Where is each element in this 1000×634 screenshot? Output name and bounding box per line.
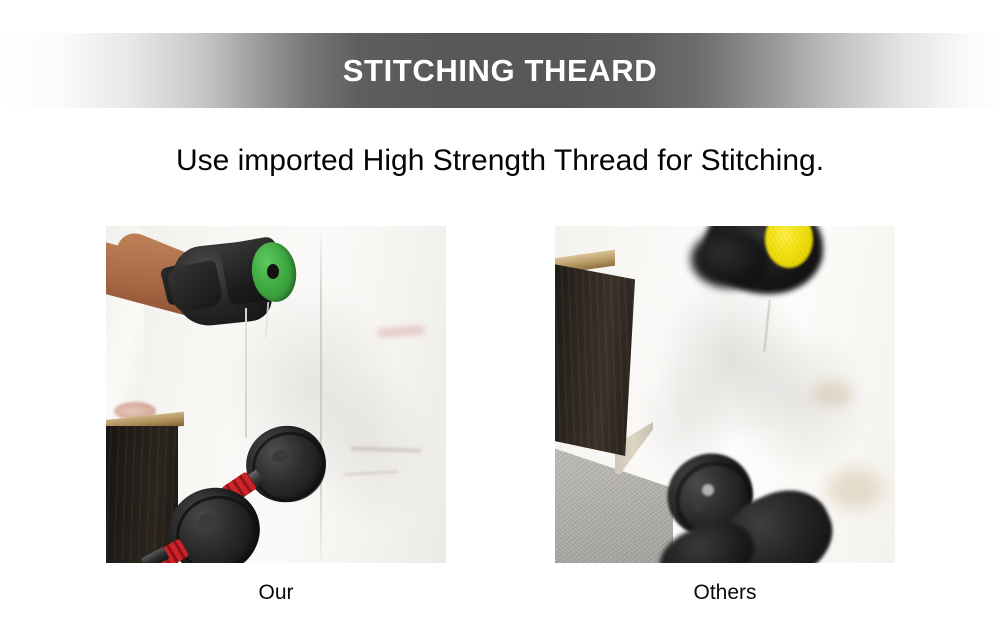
wall-seam [320,226,322,563]
hanging-thread [245,308,247,438]
header-banner: STITCHING THEARD [0,33,1000,108]
comparison-panels: Our Others [0,226,1000,616]
caption-our: Our [106,581,446,605]
cabinet-wood-grain [555,264,635,456]
comparison-panel-our: Our [106,226,446,605]
subtitle-text: Use imported High Strength Thread for St… [0,144,1000,178]
dumbbell-plate-hole-1 [702,484,714,496]
dumbbell-plate-hole-2 [693,502,704,511]
photo-our [106,226,446,563]
cabinet-wood-grain [106,426,178,563]
comparison-panel-others: Others [555,226,895,605]
caption-others: Others [555,581,895,605]
glove-fingers [691,230,769,288]
photo-others [555,226,895,563]
spool-center-hole [267,264,279,279]
wall-stain-2 [827,469,883,509]
page-title: STITCHING THEARD [343,53,657,89]
